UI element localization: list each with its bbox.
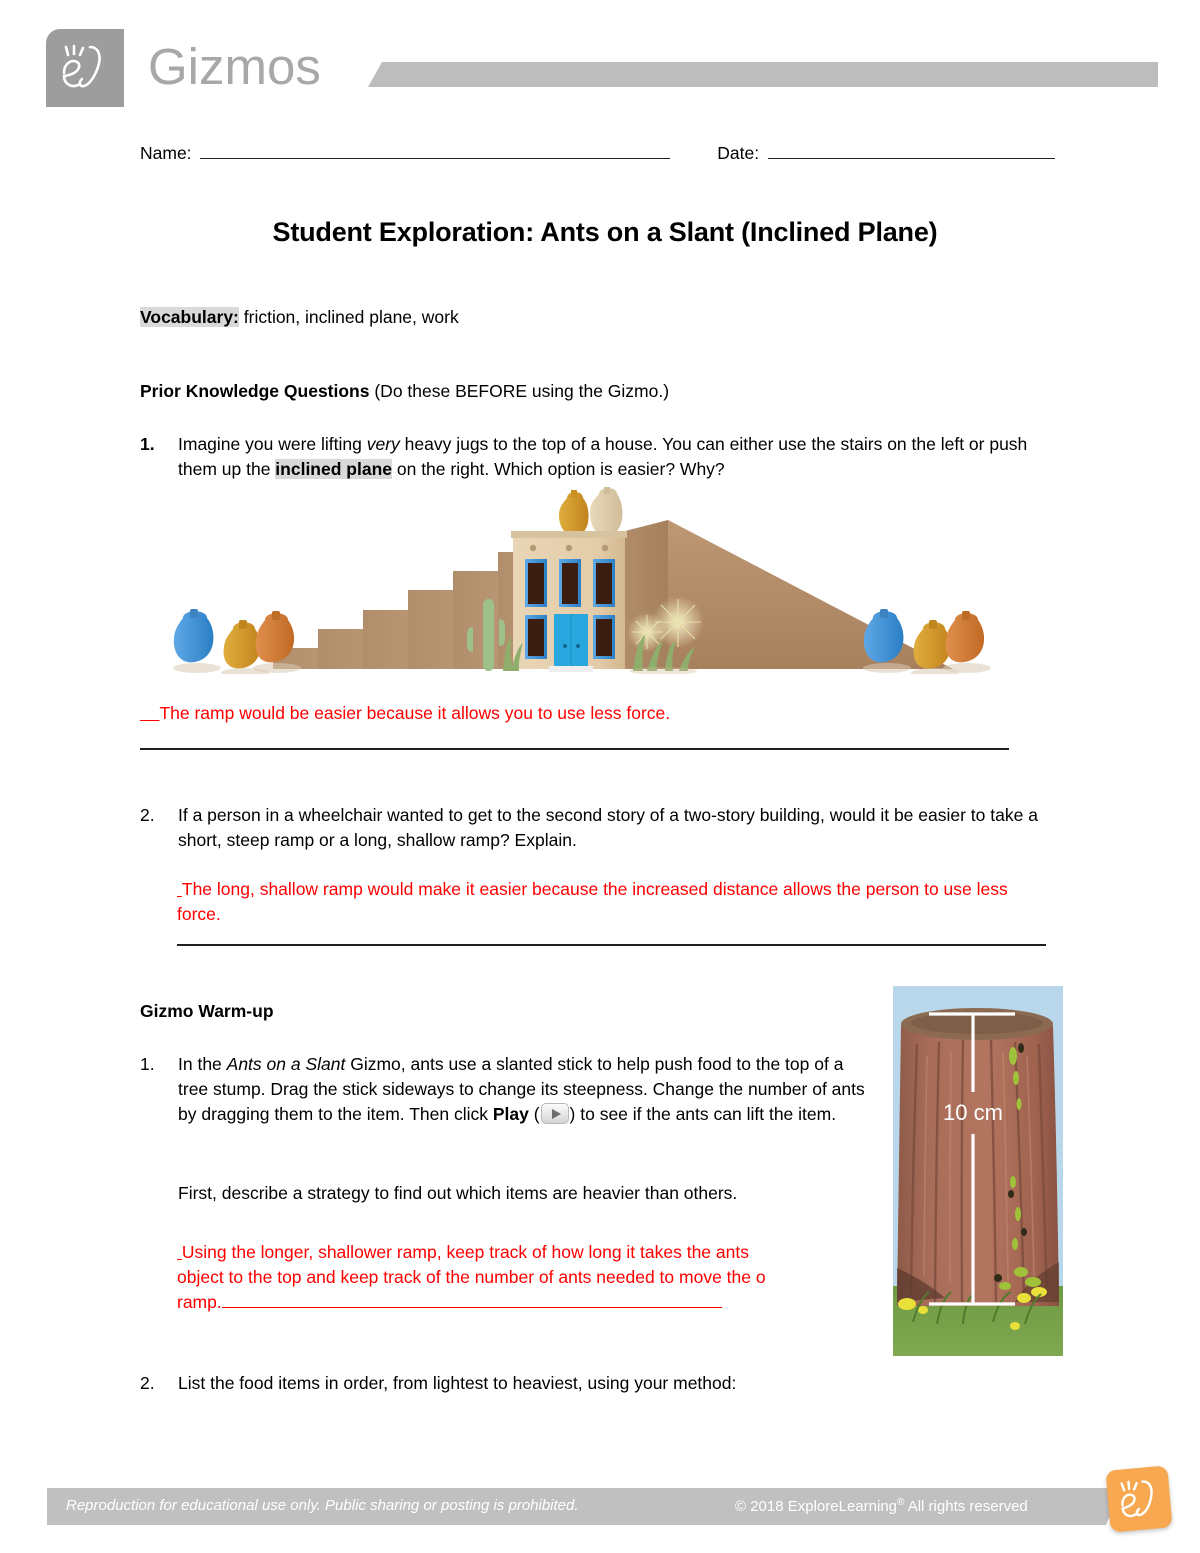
- prior-knowledge-heading: Prior Knowledge Questions: [140, 381, 369, 401]
- tree-stump-photo: 10 cm: [893, 986, 1063, 1356]
- copyright-text: © 2018 ExploreLearning: [735, 1498, 897, 1515]
- q1-text-a: Imagine you were lifting: [178, 434, 367, 454]
- page-title: Student Exploration: Ants on a Slant (In…: [140, 217, 1070, 248]
- name-label: Name:: [140, 143, 192, 164]
- warmup-item-2-number: 2.: [140, 1371, 168, 1396]
- gizmo-name: Ants on a Slant: [227, 1054, 346, 1074]
- el-monogram-icon: [1105, 1465, 1172, 1532]
- el-monogram-icon: [46, 29, 124, 107]
- play-label: Play: [493, 1104, 529, 1124]
- footer-copyright: © 2018 ExploreLearning® All rights reser…: [735, 1497, 1028, 1515]
- page-footer: Reproduction for educational use only. P…: [0, 1474, 1200, 1553]
- prior-knowledge-heading-line: Prior Knowledge Questions (Do these BEFO…: [140, 381, 669, 402]
- footer-el-logo: [1105, 1465, 1172, 1532]
- question-1: 1. Imagine you were lifting very heavy j…: [140, 432, 1070, 482]
- q1-emphasis: very: [367, 434, 400, 454]
- question-1-answer[interactable]: The ramp would be easier because it allo…: [140, 701, 1020, 726]
- answer-line-2[interactable]: [177, 944, 1046, 946]
- paren-open: (: [529, 1104, 540, 1124]
- warmup-item-1: 1. In the Ants on a Slant Gizmo, ants us…: [140, 1052, 870, 1127]
- question-1-number: 1.: [140, 432, 168, 457]
- q1-highlight-term: inclined plane: [275, 459, 392, 479]
- warmup-item-2-text: List the food items in order, from light…: [178, 1371, 940, 1396]
- question-2-answer[interactable]: The long, shallow ramp would make it eas…: [177, 877, 1037, 927]
- question-1-answer-text: The ramp would be easier because it allo…: [159, 703, 670, 723]
- name-input-line[interactable]: [200, 143, 670, 159]
- question-1-text: Imagine you were lifting very heavy jugs…: [178, 432, 1070, 482]
- page-header: Gizmos: [0, 0, 1200, 118]
- warmup-answer-text-3: ramp.: [177, 1292, 222, 1312]
- question-2-number: 2.: [140, 803, 168, 828]
- w1-text-c: ) to see if the ants can lift the item.: [570, 1104, 837, 1124]
- answer-line-1[interactable]: [140, 748, 1009, 750]
- gizmos-logo: [46, 29, 124, 107]
- footer-notice: Reproduction for educational use only. P…: [66, 1497, 579, 1514]
- question-2-text: If a person in a wheelchair wanted to ge…: [178, 803, 1075, 853]
- vocabulary-terms: friction, inclined plane, work: [244, 307, 459, 327]
- question-2-answer-text: The long, shallow ramp would make it eas…: [177, 879, 1008, 924]
- question-2: 2. If a person in a wheelchair wanted to…: [140, 803, 1075, 853]
- warmup-answer-blank-line[interactable]: [222, 1294, 722, 1308]
- play-triangle-icon[interactable]: [541, 1103, 569, 1124]
- date-label: Date:: [717, 143, 759, 164]
- gizmo-warmup-heading: Gizmo Warm-up: [140, 1001, 274, 1022]
- vocabulary-label: Vocabulary:: [140, 307, 239, 327]
- date-input-line[interactable]: [768, 143, 1055, 159]
- vocabulary-line: Vocabulary: friction, inclined plane, wo…: [140, 307, 459, 328]
- warmup-answer-text-1: Using the longer, shallower ramp, keep t…: [182, 1242, 749, 1262]
- warmup-answer-text-2: object to the top and keep track of the …: [177, 1267, 766, 1287]
- q1-text-c: on the right. Which option is easier? Wh…: [392, 459, 725, 479]
- stump-measurement-label: 10 cm: [943, 1100, 1003, 1125]
- header-accent-bar: [368, 62, 1158, 87]
- name-date-row: Name: Date:: [140, 143, 1070, 173]
- rights-text: All rights reserved: [904, 1498, 1027, 1515]
- warmup-item-1-number: 1.: [140, 1052, 168, 1077]
- warmup-item-2: 2. List the food items in order, from li…: [140, 1371, 940, 1396]
- brand-name: Gizmos: [148, 37, 321, 97]
- prior-knowledge-note: (Do these BEFORE using the Gizmo.): [374, 381, 669, 401]
- house-with-stairs-and-ramp-illustration: [163, 487, 1008, 674]
- warmup-item-1-text: In the Ants on a Slant Gizmo, ants use a…: [178, 1052, 870, 1127]
- w1-text-a: In the: [178, 1054, 227, 1074]
- warmup-subprompt: First, describe a strategy to find out w…: [178, 1181, 878, 1206]
